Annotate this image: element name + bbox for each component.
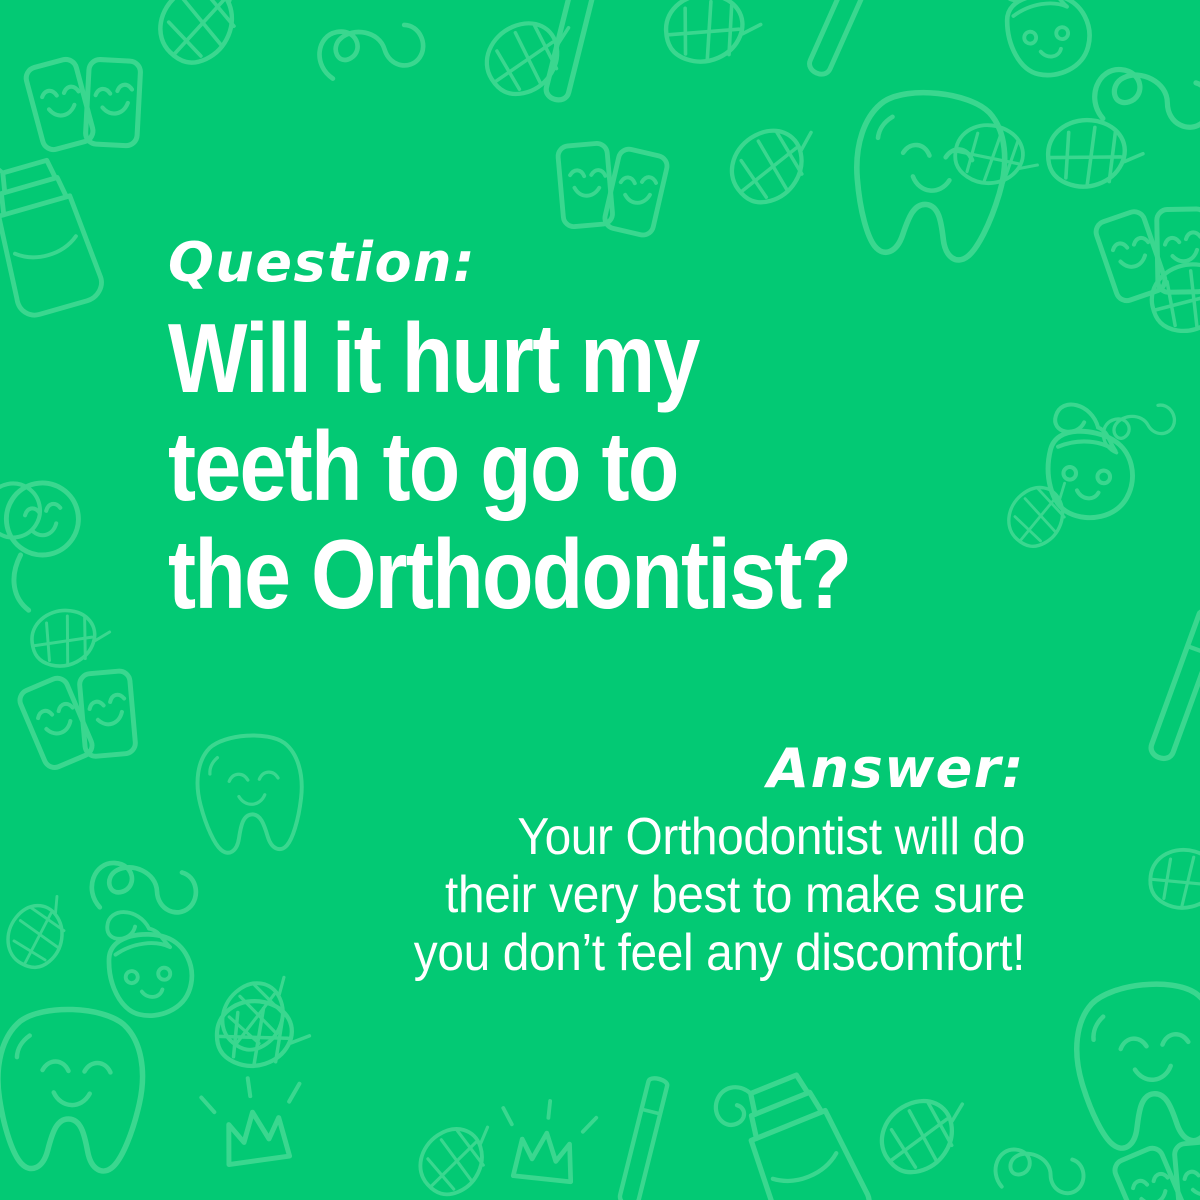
question-heading-line-2: teeth to go to bbox=[168, 412, 942, 520]
question-block: Question: Will it hurt my teeth to go to… bbox=[168, 236, 1068, 628]
answer-block: Answer: Your Orthodontist will do their … bbox=[265, 742, 1025, 982]
answer-body-line-1: Your Orthodontist will do bbox=[326, 808, 1025, 866]
question-heading-line-3: the Orthodontist? bbox=[168, 520, 942, 628]
faq-poster: Question: Will it hurt my teeth to go to… bbox=[0, 0, 1200, 1200]
question-heading: Will it hurt my teeth to go to the Ortho… bbox=[168, 304, 942, 628]
answer-body-line-3: you don’t feel any discomfort! bbox=[326, 924, 1025, 982]
answer-body-line-2: their very best to make sure bbox=[326, 866, 1025, 924]
answer-body: Your Orthodontist will do their very bes… bbox=[326, 808, 1025, 982]
question-label: Question: bbox=[168, 236, 1068, 290]
answer-label: Answer: bbox=[265, 742, 1025, 796]
poster-content: Question: Will it hurt my teeth to go to… bbox=[0, 0, 1200, 1200]
question-heading-line-1: Will it hurt my bbox=[168, 304, 942, 412]
